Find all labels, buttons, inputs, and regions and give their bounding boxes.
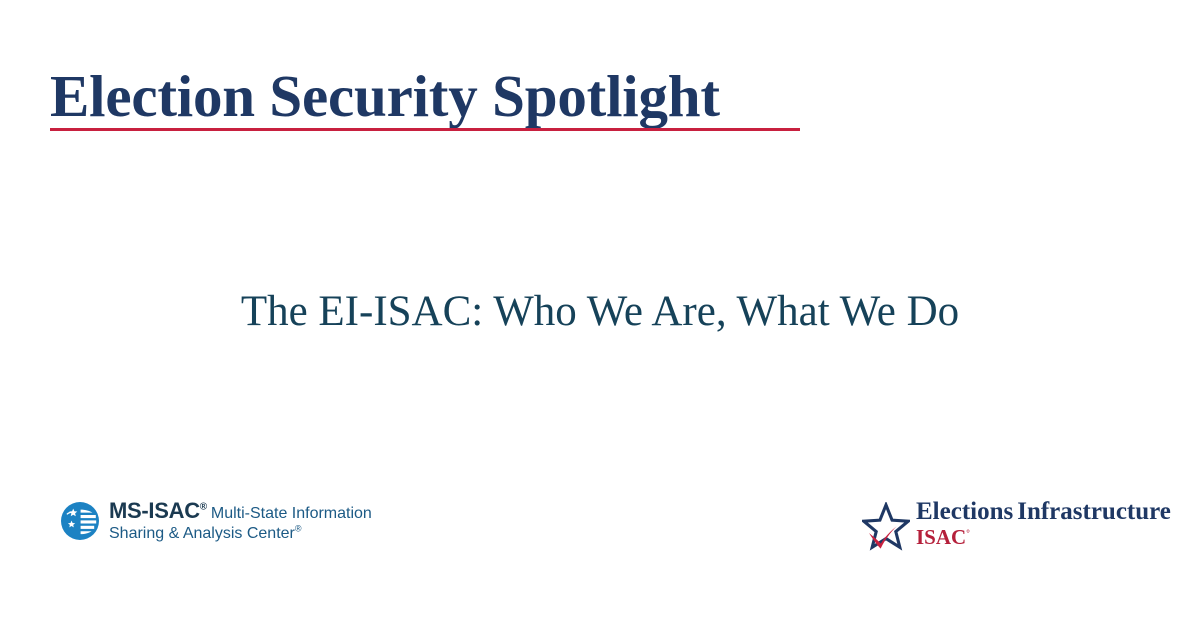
title-underline-rule [50, 128, 800, 131]
ms-isac-registered-mark: ® [200, 502, 207, 513]
page-title: Election Security Spotlight [50, 66, 810, 126]
ms-isac-subtitle-line-1: Multi-State Information [211, 505, 372, 522]
ei-isac-wordmark: Elections Infrastructure ISAC° [916, 499, 1200, 549]
ei-isac-degree-mark: ° [966, 528, 970, 538]
title-block: Election Security Spotlight [50, 66, 810, 126]
ms-isac-flag-circle-icon [60, 501, 100, 541]
ms-isac-wordmark: MS-ISAC® Multi-State Information Sharing… [109, 499, 372, 544]
ms-isac-subtitle-line-2: Sharing & Analysis Center [109, 525, 295, 542]
page-subtitle: The EI-ISAC: Who We Are, What We Do [241, 288, 959, 335]
ei-isac-isac-label: ISAC° [916, 525, 970, 549]
ms-isac-logo: MS-ISAC® Multi-State Information Sharing… [60, 499, 372, 544]
ei-isac-logo: Elections Infrastructure ISAC° [862, 499, 1200, 552]
ms-isac-title: MS-ISAC® [109, 498, 207, 523]
ms-isac-title-text: MS-ISAC [109, 498, 200, 523]
ms-isac-subtitle-registered-mark: ® [295, 524, 302, 534]
slide-canvas: Election Security Spotlight The EI-ISAC:… [0, 0, 1200, 627]
ei-isac-line-2: Infrastructure [1017, 498, 1171, 525]
ei-isac-line-1: Elections [916, 498, 1013, 525]
elections-star-swoosh-icon [862, 502, 910, 552]
subtitle-block: The EI-ISAC: Who We Are, What We Do [0, 288, 1200, 335]
ei-isac-isac-text: ISAC [916, 525, 966, 549]
